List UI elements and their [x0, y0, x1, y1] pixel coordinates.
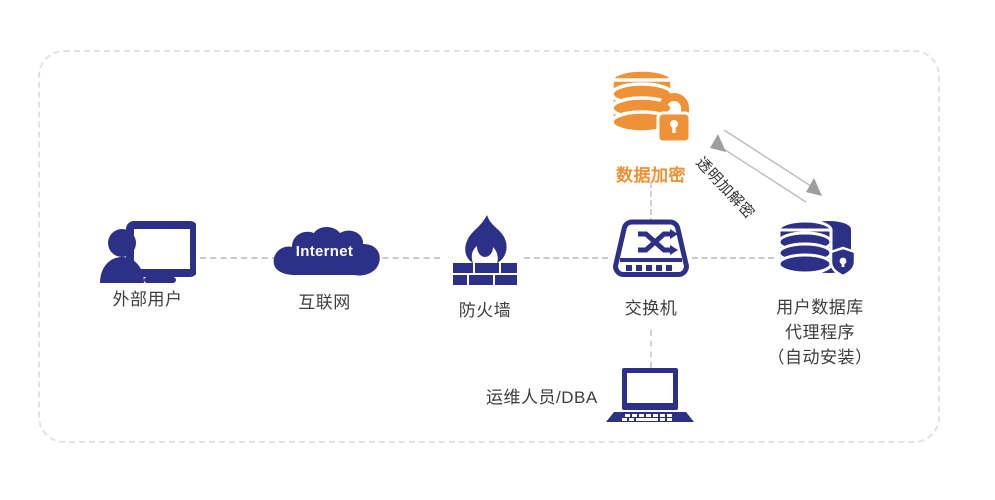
node-switch[interactable]: 交换机: [592, 218, 710, 321]
connector-switch-to-laptop: [650, 330, 652, 368]
database-padlock-icon: [592, 68, 710, 151]
node-internet[interactable]: Internet 互联网: [262, 225, 387, 315]
node-label-firewall: 防火墙: [425, 299, 545, 323]
node-label-user-database-line-1: 用户数据库: [758, 295, 882, 320]
node-label-internet: 互联网: [262, 291, 387, 315]
node-label-user-database-line-3: （自动安装）: [758, 345, 882, 370]
node-data-encryption[interactable]: 数据加密: [592, 68, 710, 186]
network-switch-icon: [592, 218, 710, 287]
user-monitor-icon: [80, 215, 215, 288]
node-label-switch: 交换机: [592, 297, 710, 321]
firewall-flame-brick-icon: [425, 213, 545, 290]
database-shield-lock-icon: [758, 218, 882, 285]
node-label-user-database-line-2: 代理程序: [758, 320, 882, 345]
node-label-external-user: 外部用户: [80, 288, 215, 312]
node-label-operator-dba: 运维人员/DBA: [486, 386, 598, 410]
cloud-icon: Internet: [262, 225, 387, 283]
network-architecture-diagram: 外部用户 Internet 互联网 防火墙: [0, 0, 995, 500]
node-external-user[interactable]: 外部用户: [80, 215, 215, 312]
node-operator-dba[interactable]: [598, 366, 702, 431]
laptop-icon: [598, 366, 702, 431]
node-label-user-database: 用户数据库 代理程序 （自动安装）: [758, 295, 882, 370]
node-firewall[interactable]: 防火墙: [425, 213, 545, 323]
node-user-database[interactable]: 用户数据库 代理程序 （自动安装）: [758, 218, 882, 370]
